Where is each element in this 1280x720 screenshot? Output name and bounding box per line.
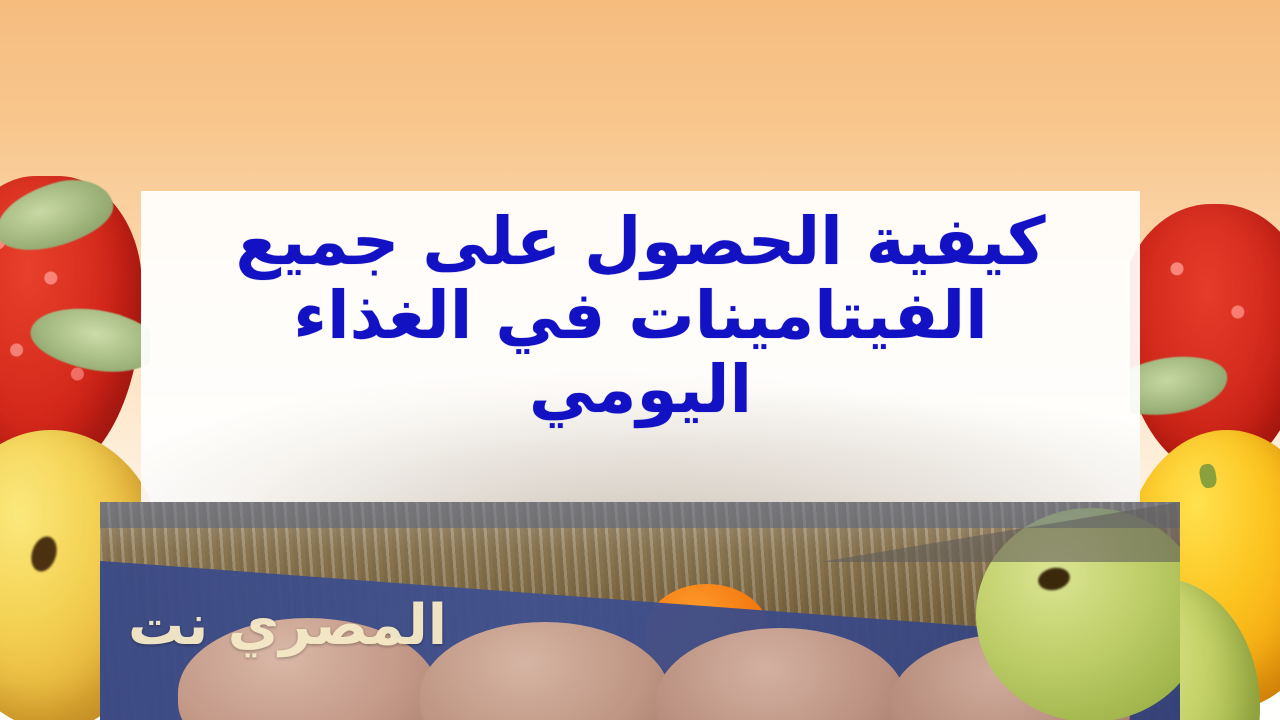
title-card: كيفية الحصول على جميع الفيتامينات في الغ… bbox=[141, 191, 1140, 520]
site-watermark: المصري نت bbox=[128, 598, 447, 654]
page-title: كيفية الحصول على جميع الفيتامينات في الغ… bbox=[236, 205, 1046, 427]
photo-top-scrim bbox=[100, 502, 1180, 528]
slide-canvas: كيفية الحصول على جميع الفيتامينات في الغ… bbox=[0, 0, 1280, 720]
